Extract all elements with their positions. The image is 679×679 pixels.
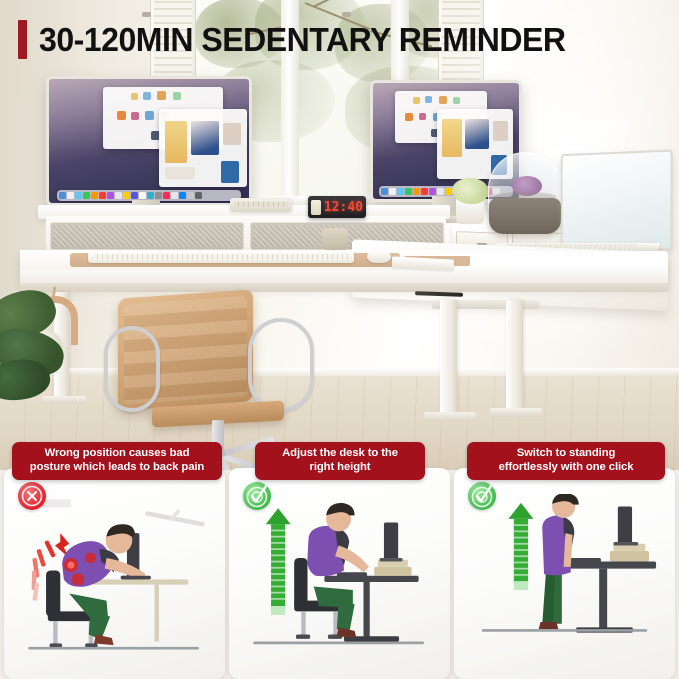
office-chair-arm-left (104, 326, 160, 412)
plant-foliage (452, 178, 488, 204)
desk-foot-right (490, 408, 542, 417)
monitor-left (46, 76, 252, 206)
check-icon (468, 482, 496, 510)
digital-desk-clock: 12:40 (308, 196, 366, 218)
check-icon-glyph (468, 482, 496, 510)
baseboard (0, 368, 679, 376)
headline: 30-120MIN SEDENTARY REMINDER (18, 20, 582, 59)
caption-wrong-posture: Wrong position causes bad posture which … (12, 442, 222, 480)
clock-sensor-panel (311, 200, 321, 215)
product-marketing-image: 12:40 (0, 0, 679, 679)
desk-foot-left (42, 396, 86, 404)
desk-front-edge (20, 283, 668, 292)
clock-time: 12:40 (324, 201, 363, 214)
panel-standing (454, 468, 675, 679)
height-meter (266, 508, 291, 615)
wireless-charging-pad (230, 198, 292, 212)
illustration-right-height (229, 494, 450, 654)
headline-text: 30-120MIN SEDENTARY REMINDER (39, 21, 566, 59)
benefit-panels (0, 468, 679, 679)
dome-base (489, 198, 561, 234)
laptop-screen (561, 149, 673, 250)
desk-leg-right (506, 300, 523, 412)
mouse (367, 250, 391, 263)
hero-photo-scene: 12:40 (0, 0, 679, 470)
caption-standing: Switch to standing effortlessly with one… (467, 442, 665, 480)
desk-leg-mid (440, 300, 457, 416)
illustration-wrong-posture (4, 494, 225, 654)
cross-icon (18, 482, 46, 510)
keyboard (88, 251, 354, 263)
headline-accent-bar (18, 20, 27, 59)
height-meter (509, 503, 534, 590)
desk-foot-mid (424, 412, 476, 421)
monitor-left-screen (49, 79, 249, 203)
desk-trinket (322, 228, 348, 250)
caption-right-height: Adjust the desk to the right height (255, 442, 425, 480)
cross-icon-glyph (18, 482, 46, 510)
office-chair-arm-right (248, 318, 314, 412)
check-icon-glyph (243, 482, 271, 510)
shelf-drawer-right-knob[interactable] (342, 12, 351, 17)
shelf-drawer-left[interactable] (50, 222, 244, 250)
panel-wrong-posture (4, 468, 225, 679)
shelf-drawer-left-knob[interactable] (142, 12, 151, 17)
check-icon (243, 482, 271, 510)
panel-right-height (229, 468, 450, 679)
illustration-standing (454, 494, 675, 654)
